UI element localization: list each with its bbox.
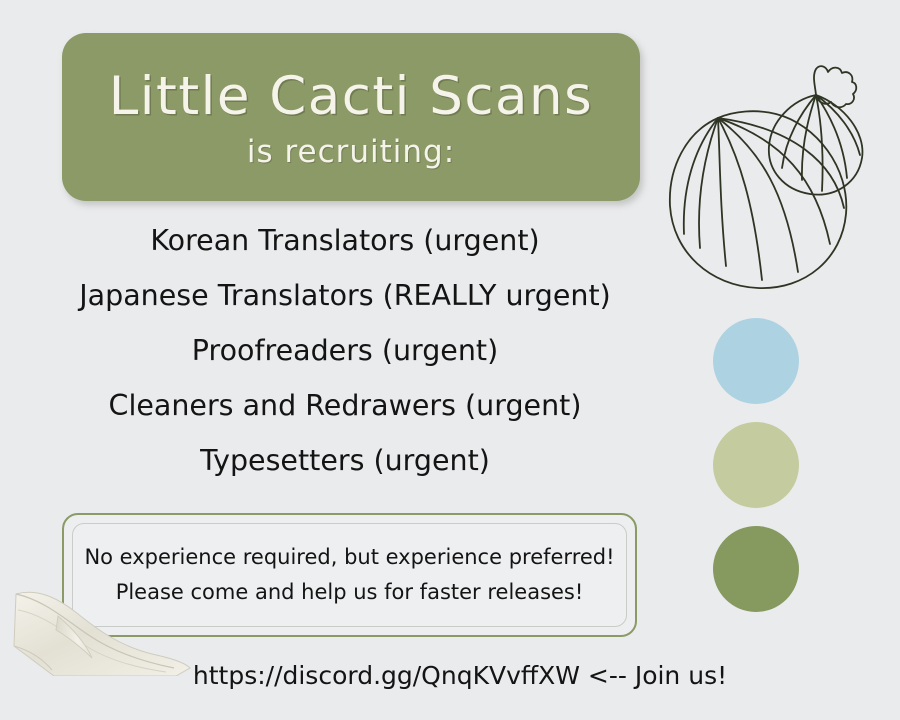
list-item: Typesetters (urgent): [200, 434, 490, 489]
cactus-icon: [658, 28, 900, 314]
recruitment-poster: Little Cacti Scans is recruiting:: [0, 0, 900, 720]
header-banner: Little Cacti Scans is recruiting:: [62, 33, 640, 201]
ribbon-icon: [0, 558, 194, 676]
color-swatch-sage-green: [713, 422, 799, 508]
color-swatch-olive-green: [713, 526, 799, 612]
page-title: Little Cacti Scans: [109, 69, 593, 125]
list-item: Proofreaders (urgent): [192, 324, 498, 379]
role-list: Korean Translators (urgent) Japanese Tra…: [40, 214, 650, 489]
discord-invite-text: https://discord.gg/QnqKVvffXW <-- Join u…: [193, 663, 727, 688]
list-item: Cleaners and Redrawers (urgent): [109, 379, 582, 434]
list-item: Japanese Translators (REALLY urgent): [79, 269, 611, 324]
color-swatch-light-blue: [713, 318, 799, 404]
list-item: Korean Translators (urgent): [150, 214, 539, 269]
discord-invite-link[interactable]: https://discord.gg/QnqKVvffXW <-- Join u…: [0, 663, 900, 688]
page-subtitle: is recruiting:: [247, 135, 455, 169]
